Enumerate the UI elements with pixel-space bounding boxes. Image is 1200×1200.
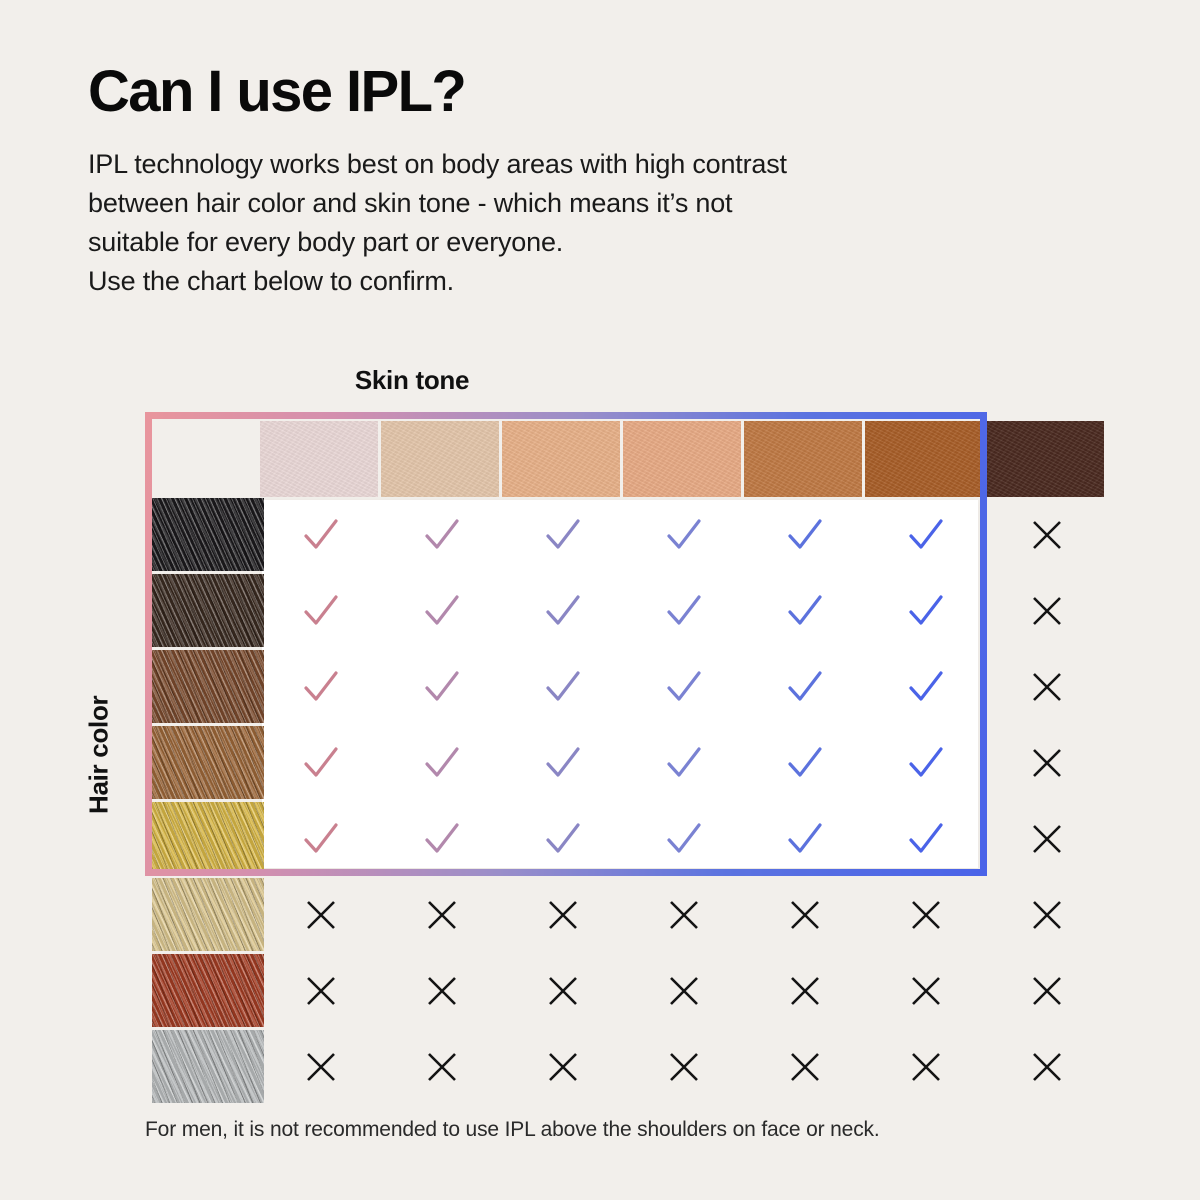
hair-color-swatch bbox=[152, 954, 264, 1027]
check-icon bbox=[867, 726, 985, 799]
cross-icon bbox=[988, 878, 1106, 951]
check-icon bbox=[746, 574, 864, 647]
check-icon bbox=[383, 650, 501, 723]
skin-tone-swatch bbox=[381, 421, 499, 497]
check-icon bbox=[625, 802, 743, 875]
check-icon bbox=[262, 802, 380, 875]
hair-color-swatch-column bbox=[152, 498, 264, 1103]
skin-tone-swatch bbox=[502, 421, 620, 497]
grid-row bbox=[262, 498, 1120, 571]
cross-icon bbox=[383, 878, 501, 951]
grid-row bbox=[262, 726, 1120, 799]
cross-icon bbox=[746, 878, 864, 951]
check-icon bbox=[383, 726, 501, 799]
cross-icon bbox=[988, 1030, 1106, 1103]
check-icon bbox=[625, 726, 743, 799]
cross-icon bbox=[262, 878, 380, 951]
check-icon bbox=[867, 498, 985, 571]
grid-row bbox=[262, 1030, 1120, 1103]
check-icon bbox=[383, 802, 501, 875]
cross-icon bbox=[988, 650, 1106, 723]
hair-color-swatch bbox=[152, 802, 264, 875]
cross-icon bbox=[867, 878, 985, 951]
cross-icon bbox=[988, 954, 1106, 1027]
grid-row bbox=[262, 574, 1120, 647]
check-icon bbox=[625, 574, 743, 647]
skin-tone-axis-label-text: Skin tone bbox=[355, 365, 469, 395]
check-icon bbox=[262, 498, 380, 571]
footnote-text: For men, it is not recommended to use IP… bbox=[145, 1118, 880, 1142]
check-icon bbox=[504, 726, 622, 799]
check-icon bbox=[746, 498, 864, 571]
hair-color-swatch bbox=[152, 1030, 264, 1103]
check-icon bbox=[867, 802, 985, 875]
skin-tone-swatch bbox=[744, 421, 862, 497]
grid-row bbox=[262, 650, 1120, 723]
cross-icon bbox=[988, 574, 1106, 647]
cross-icon bbox=[504, 954, 622, 1027]
check-icon bbox=[504, 574, 622, 647]
cross-icon bbox=[746, 1030, 864, 1103]
cross-icon bbox=[867, 1030, 985, 1103]
check-icon bbox=[262, 574, 380, 647]
check-icon bbox=[867, 650, 985, 723]
hair-color-swatch bbox=[152, 650, 264, 723]
check-icon bbox=[746, 726, 864, 799]
grid-row bbox=[262, 878, 1120, 951]
hair-color-swatch bbox=[152, 574, 264, 647]
cross-icon bbox=[625, 878, 743, 951]
cross-icon bbox=[383, 954, 501, 1027]
check-icon bbox=[383, 574, 501, 647]
hair-color-swatch bbox=[152, 726, 264, 799]
check-icon bbox=[746, 650, 864, 723]
cross-icon bbox=[625, 1030, 743, 1103]
check-icon bbox=[262, 726, 380, 799]
check-icon bbox=[625, 498, 743, 571]
skin-tone-swatch-row bbox=[260, 421, 1104, 497]
cross-icon bbox=[988, 498, 1106, 571]
grid-row bbox=[262, 954, 1120, 1027]
cross-icon bbox=[504, 878, 622, 951]
cross-icon bbox=[867, 954, 985, 1027]
check-icon bbox=[504, 802, 622, 875]
skin-tone-swatch bbox=[865, 421, 983, 497]
check-icon bbox=[746, 802, 864, 875]
check-icon bbox=[504, 498, 622, 571]
suitability-grid bbox=[262, 498, 1120, 1106]
check-icon bbox=[625, 650, 743, 723]
skin-tone-swatch bbox=[623, 421, 741, 497]
cross-icon bbox=[746, 954, 864, 1027]
cross-icon bbox=[625, 954, 743, 1027]
check-icon bbox=[504, 650, 622, 723]
skin-tone-swatch bbox=[986, 421, 1104, 497]
check-icon bbox=[262, 650, 380, 723]
check-icon bbox=[867, 574, 985, 647]
hair-color-axis-label: Hair color bbox=[79, 640, 119, 870]
cross-icon bbox=[988, 802, 1106, 875]
hair-color-swatch bbox=[152, 878, 264, 951]
cross-icon bbox=[262, 1030, 380, 1103]
cross-icon bbox=[262, 954, 380, 1027]
cross-icon bbox=[988, 726, 1106, 799]
cross-icon bbox=[504, 1030, 622, 1103]
grid-row bbox=[262, 802, 1120, 875]
hair-color-swatch bbox=[152, 498, 264, 571]
skin-tone-axis-label: Skin tone bbox=[0, 365, 1200, 396]
skin-tone-swatch bbox=[260, 421, 378, 497]
cross-icon bbox=[383, 1030, 501, 1103]
ipl-suitability-chart: Skin tone Hair color For men, it is not … bbox=[0, 0, 1200, 1200]
check-icon bbox=[383, 498, 501, 571]
